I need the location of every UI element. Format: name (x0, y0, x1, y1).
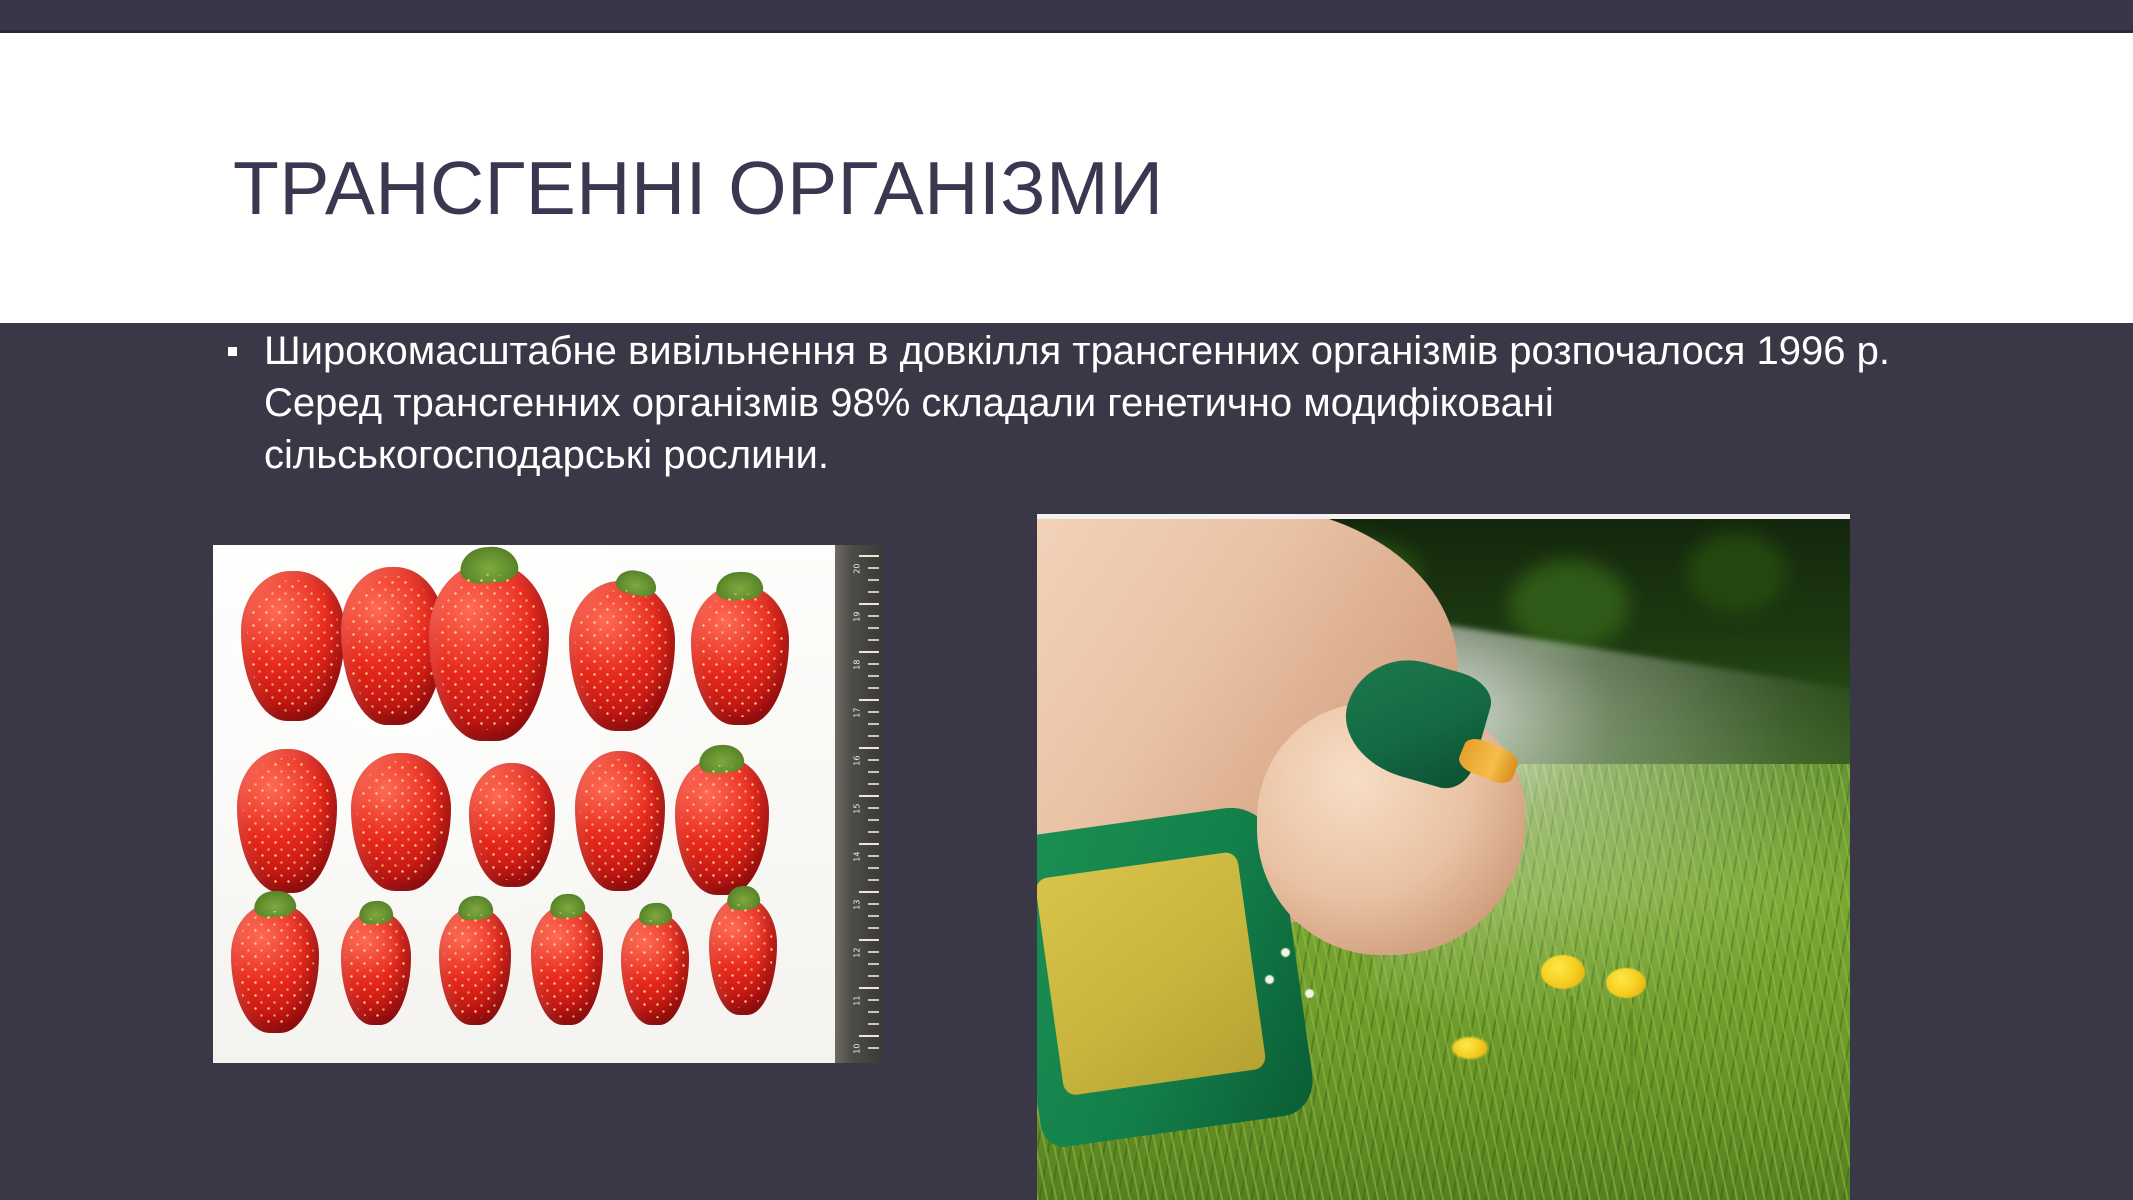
ruler-label: 14 (853, 852, 862, 862)
strawberry-fruit (621, 913, 689, 1025)
dandelion-flower (1452, 1037, 1488, 1059)
bullet-text: Широкомасштабне вивільнення в довкілля т… (264, 325, 1928, 481)
strawberry-leaf (699, 743, 746, 774)
ruler-label: 10 (853, 1044, 862, 1054)
strawberry-fruit (709, 897, 777, 1015)
slide-title: ТРАНСГЕННІ ОРГАНІЗМИ (233, 151, 1163, 226)
strawberry-leaf (716, 571, 765, 602)
strawberry-leaf (253, 890, 297, 919)
slide-top-accent-bar (0, 0, 2133, 30)
strawberry-leaf (638, 902, 672, 927)
strawberry-fruit (237, 749, 337, 893)
strawberry-fruit (531, 905, 603, 1025)
slide-body: Широкомасштабне вивільнення в довкілля т… (228, 325, 1928, 481)
bokeh-highlight (1687, 533, 1787, 613)
bokeh-highlight (1509, 560, 1629, 650)
strawberry-fruit (469, 763, 555, 887)
strawberry-fruit (341, 911, 411, 1025)
ruler-scale: 20 19 18 17 16 15 14 13 12 11 10 (835, 545, 883, 1063)
ruler-label: 12 (853, 948, 862, 958)
slide-title-band: ТРАНСГЕННІ ОРГАНІЗМИ (0, 33, 2133, 323)
dandelion-stem (1630, 1009, 1633, 1104)
strawberry-fruit (569, 581, 675, 731)
ruler-label: 20 (853, 564, 862, 574)
white-clover-flower (1265, 975, 1274, 984)
strawberry-fruit (429, 563, 549, 741)
strawberry-leaf (726, 885, 760, 911)
dandelion-flower (1541, 955, 1585, 989)
strawberry-fruit (241, 571, 345, 721)
ruler-label: 18 (853, 660, 862, 670)
bullet-marker-icon (228, 347, 237, 356)
dandelion-stem (1570, 996, 1573, 1105)
presentation-slide: ТРАНСГЕННІ ОРГАНІЗМИ Широкомасштабне вив… (0, 0, 2133, 1200)
ruler-label: 11 (853, 996, 862, 1006)
spray-scene (1037, 519, 1850, 1200)
strawberry-fruit (575, 751, 665, 891)
strawberry-fruit (675, 757, 769, 895)
strawberry-fruit (691, 585, 789, 725)
strawberry-leaf (457, 895, 493, 921)
ruler-label: 13 (853, 900, 862, 910)
white-clover-flower (1281, 948, 1290, 957)
ruler-label: 16 (853, 756, 862, 766)
strawberries-photo-background (213, 545, 835, 1063)
strawberries-photo: 20 19 18 17 16 15 14 13 12 11 10 (213, 545, 883, 1063)
bottle-label (1037, 850, 1267, 1096)
strawberry-leaf (549, 893, 585, 919)
ruler-label: 17 (853, 708, 862, 718)
strawberry-leaf (358, 900, 393, 925)
strawberry-fruit (351, 753, 451, 891)
ruler-label: 15 (853, 804, 862, 814)
strawberry-leaf (459, 545, 519, 585)
herbicide-spray-photo (1037, 514, 1850, 1200)
bullet-list-item: Широкомасштабне вивільнення в довкілля т… (228, 325, 1928, 481)
strawberry-leaf (614, 567, 659, 599)
strawberry-fruit (439, 907, 511, 1025)
ruler-label: 19 (853, 612, 862, 622)
strawberry-fruit (231, 903, 319, 1033)
